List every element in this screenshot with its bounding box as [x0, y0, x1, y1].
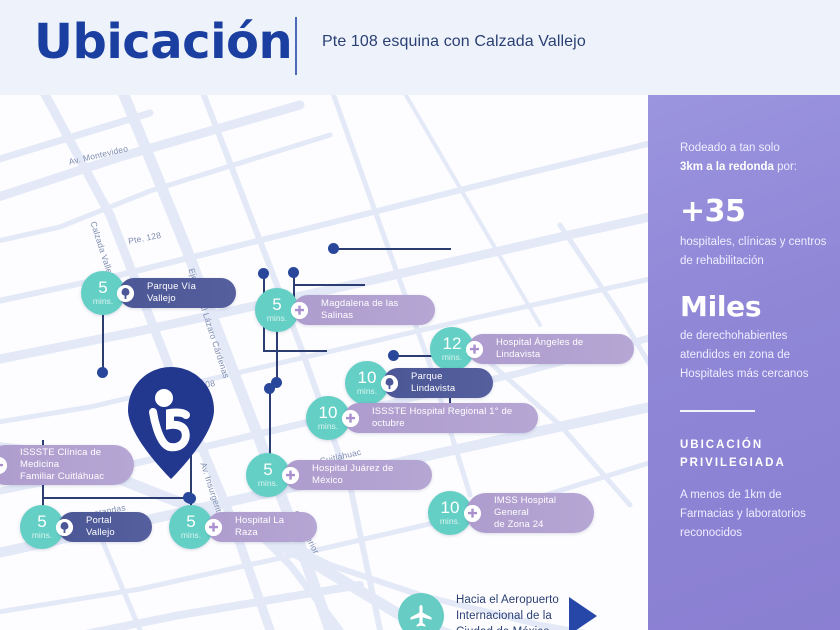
sidebar-stat2-desc: de derechohabientes atendidos en zona de…: [680, 327, 840, 384]
map-dot: [328, 243, 339, 254]
poi-label: IMSS Hospital General de Zona 24: [494, 495, 580, 531]
hospital-cross-icon: [464, 505, 481, 522]
time-value: 5: [272, 297, 281, 313]
tree-icon: [117, 285, 134, 302]
poi-label: Hospital Juárez de México: [312, 463, 418, 487]
time-unit: mins.: [32, 530, 52, 540]
sidebar-lead-tail: por:: [774, 161, 797, 173]
hospital-cross-icon: [291, 302, 308, 319]
sidebar-divider: [680, 410, 755, 412]
airplane-icon: [398, 593, 444, 630]
time-value: 10: [319, 405, 338, 421]
time-value: 5: [186, 514, 195, 530]
poi-label: Portal Vallejo: [86, 515, 138, 539]
poi-pill-parque-via-vallejo[interactable]: Parque Vía Vallejo: [119, 278, 236, 308]
poi-label: Parque Vía Vallejo: [147, 281, 222, 305]
hospital-cross-icon: [342, 410, 359, 427]
poi-label: ISSSTE Hospital Regional 1° de octubre: [372, 406, 524, 430]
main-location-pin[interactable]: [128, 367, 214, 484]
airport-label: Hacia el Aeropuerto Internacional de la …: [456, 592, 559, 630]
page-header: Ubicación Pte 108 esquina con Calzada Va…: [0, 0, 840, 95]
tree-icon: [56, 519, 73, 536]
page-title: Ubicación: [34, 11, 292, 73]
time-unit: mins.: [93, 296, 113, 306]
poi-pill-issste-clinica-medicina-familiar[interactable]: ISSSTE Clínica de Medicina Familiar Cuit…: [0, 445, 134, 485]
sidebar-stat2-value: Miles: [680, 291, 840, 323]
triangle-right-icon: [569, 597, 597, 630]
sidebar-footer: A menos de 1km de Farmacias y laboratori…: [680, 486, 840, 543]
poi-pill-issste-hospital-regional[interactable]: ISSSTE Hospital Regional 1° de octubre: [344, 403, 538, 433]
info-sidebar: Rodeado a tan solo 3km a la redonda por:…: [648, 95, 840, 630]
sidebar-lead-line1: Rodeado a tan solo: [680, 142, 780, 154]
sidebar-lead-bold: 3km a la redonda: [680, 161, 774, 173]
hospital-cross-icon: [466, 341, 483, 358]
map-dot: [258, 268, 269, 279]
leader-line: [42, 497, 188, 499]
header-subtitle: Pte 108 esquina con Calzada Vallejo: [322, 33, 586, 51]
poi-label: Hospital La Raza: [235, 515, 303, 539]
time-value: 5: [263, 462, 272, 478]
time-unit: mins.: [357, 386, 377, 396]
map-dot: [185, 493, 196, 504]
sidebar-stat1-desc: hospitales, clínicas y centros de rehabi…: [680, 233, 840, 271]
map-dot: [97, 367, 108, 378]
leader-line: [333, 248, 451, 250]
map-dot: [264, 383, 275, 394]
tree-icon: [381, 375, 398, 392]
time-value: 10: [441, 500, 460, 516]
time-unit: mins.: [440, 516, 460, 526]
time-unit: mins.: [181, 530, 201, 540]
poi-pill-hospital-angeles-de-lindavista[interactable]: Hospital Ángeles de Lindavista: [468, 334, 634, 364]
sidebar-stat1-value: +35: [680, 195, 840, 229]
poi-label: ISSSTE Clínica de Medicina Familiar Cuit…: [20, 447, 120, 483]
map-dot: [288, 267, 299, 278]
time-value: 5: [98, 280, 107, 296]
poi-pill-hospital-la-raza[interactable]: Hospital La Raza: [207, 512, 317, 542]
poi-pill-magdalena-de-las-salinas[interactable]: Magdalena de las Salinas: [293, 295, 435, 325]
time-unit: mins.: [442, 352, 462, 362]
sidebar-caption: UBICACIÓN PRIVILEGIADA: [680, 436, 840, 472]
time-value: 10: [358, 370, 377, 386]
time-unit: mins.: [267, 313, 287, 323]
poi-pill-parque-lindavista[interactable]: Parque Lindavista: [383, 368, 493, 398]
location-infographic: Ubicación Pte 108 esquina con Calzada Va…: [0, 0, 840, 630]
leader-line: [269, 388, 271, 458]
poi-pill-imss-hospital-general-zona-24[interactable]: IMSS Hospital General de Zona 24: [466, 493, 594, 533]
hospital-cross-icon: [0, 457, 7, 474]
hospital-cross-icon: [205, 519, 222, 536]
poi-label: Magdalena de las Salinas: [321, 298, 421, 322]
time-unit: mins.: [258, 478, 278, 488]
poi-label: Parque Lindavista: [411, 371, 479, 395]
airport-callout[interactable]: Hacia el Aeropuerto Internacional de la …: [398, 592, 597, 630]
poi-pill-hospital-juarez-de-mexico[interactable]: Hospital Juárez de México: [284, 460, 432, 490]
leader-line: [263, 350, 327, 352]
time-value: 12: [443, 336, 462, 352]
header-divider: [295, 17, 297, 75]
map-dot: [388, 350, 399, 361]
sidebar-lead: Rodeado a tan solo 3km a la redonda por:: [680, 139, 840, 177]
time-value: 5: [37, 514, 46, 530]
leader-line: [293, 284, 365, 286]
poi-label: Hospital Ángeles de Lindavista: [496, 337, 620, 361]
map-canvas[interactable]: Av. Montevideo Calzada Vallejo Pte. 128 …: [0, 95, 648, 630]
poi-pill-portal-vallejo[interactable]: Portal Vallejo: [58, 512, 152, 542]
hospital-cross-icon: [282, 467, 299, 484]
time-unit: mins.: [318, 421, 338, 431]
